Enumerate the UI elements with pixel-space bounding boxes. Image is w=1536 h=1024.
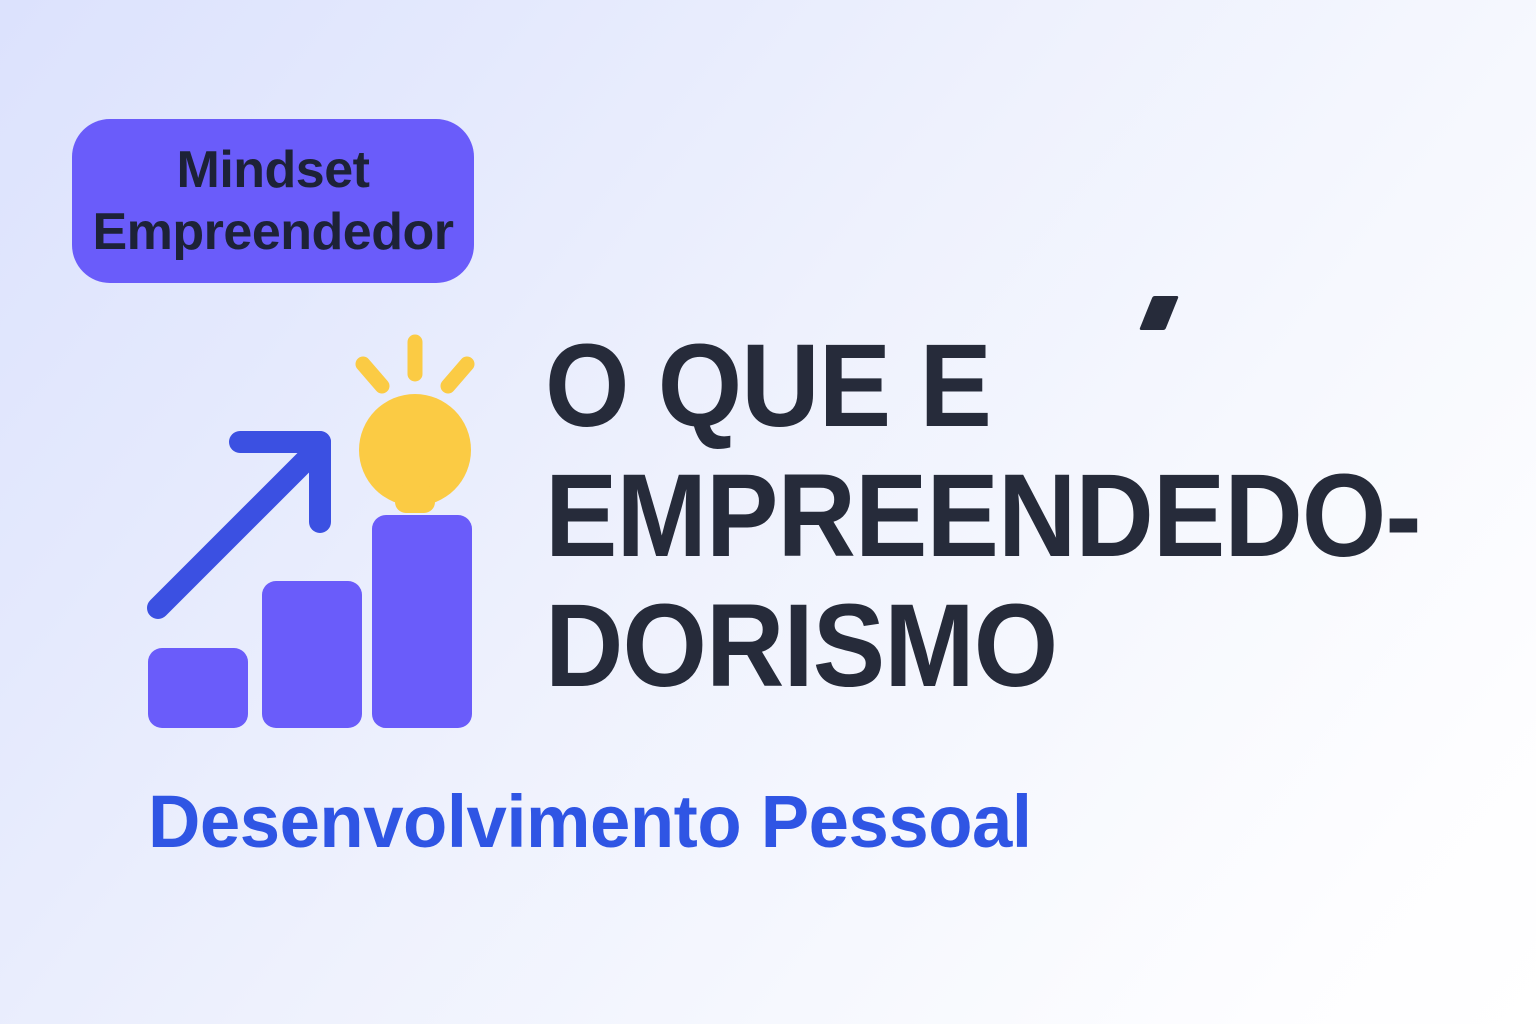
poster-canvas: Mindset Empreendedor (0, 0, 1536, 1024)
category-badge: Mindset Empreendedor (72, 119, 474, 283)
badge-line-2: Empreendedor (93, 201, 454, 263)
bar-1 (148, 648, 248, 728)
lightbulb-rays-icon (363, 342, 467, 386)
page-title: O QUE E EMPREENDEDO- DORISMO (545, 321, 1375, 711)
bar-2 (262, 581, 362, 728)
headline-line-3: DORISMO (545, 581, 1309, 711)
bar-3 (372, 515, 472, 728)
headline-line-1: O QUE E (545, 321, 1309, 451)
growth-chart-lightbulb-illustration (130, 330, 500, 735)
page-subtitle: Desenvolvimento Pessoal (148, 778, 1032, 866)
headline-line-2: EMPREENDEDO- (545, 451, 1309, 581)
badge-line-1: Mindset (177, 139, 370, 201)
